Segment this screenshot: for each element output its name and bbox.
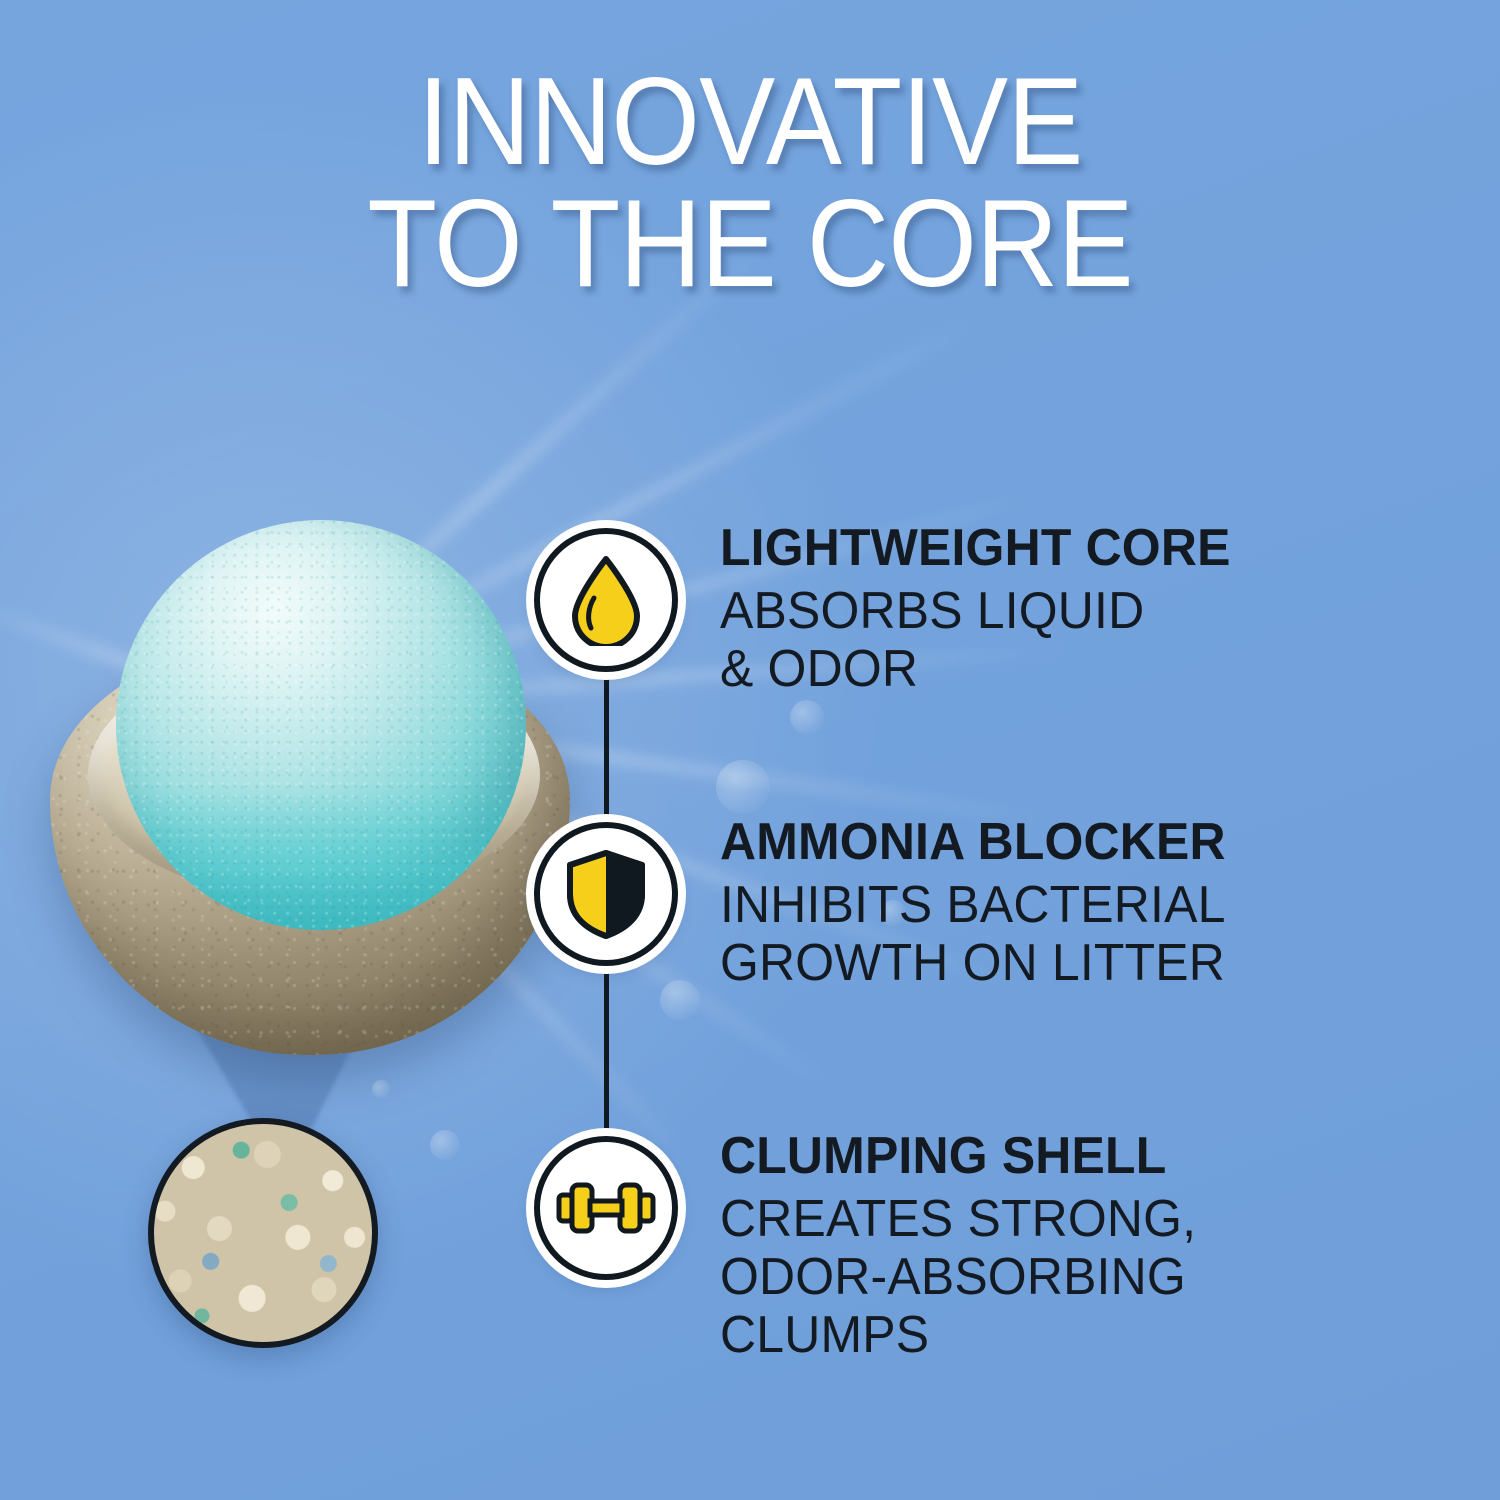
feature-description: ABSORBS LIQUID & ODOR bbox=[720, 582, 1421, 698]
feature-heading: CLUMPING SHELL bbox=[720, 1130, 1421, 1182]
feature-text-block: CLUMPING SHELL CREATES STRONG, ODOR-ABSO… bbox=[720, 1130, 1450, 1365]
infographic-poster: INNOVATIVE TO THE CORE LIGHTWEIGHT CORE … bbox=[0, 0, 1500, 1500]
feature-heading: LIGHTWEIGHT CORE bbox=[720, 522, 1421, 574]
feature-description: INHIBITS BACTERIAL GROWTH ON LITTER bbox=[720, 876, 1421, 992]
droplet-icon bbox=[534, 528, 678, 672]
lightweight-core-sphere bbox=[116, 520, 526, 930]
product-cutaway-illustration bbox=[40, 520, 620, 1140]
shield-icon bbox=[534, 822, 678, 966]
page-title: INNOVATIVE TO THE CORE bbox=[60, 62, 1440, 305]
feature-description: CREATES STRONG, ODOR-ABSORBING CLUMPS bbox=[720, 1190, 1421, 1365]
dumbbell-icon bbox=[534, 1136, 678, 1280]
feature-heading: AMMONIA BLOCKER bbox=[720, 816, 1421, 868]
litter-granules-closeup bbox=[148, 1118, 378, 1348]
feature-text-block: AMMONIA BLOCKER INHIBITS BACTERIAL GROWT… bbox=[720, 816, 1450, 992]
feature-text-block: LIGHTWEIGHT CORE ABSORBS LIQUID & ODOR bbox=[720, 522, 1450, 698]
